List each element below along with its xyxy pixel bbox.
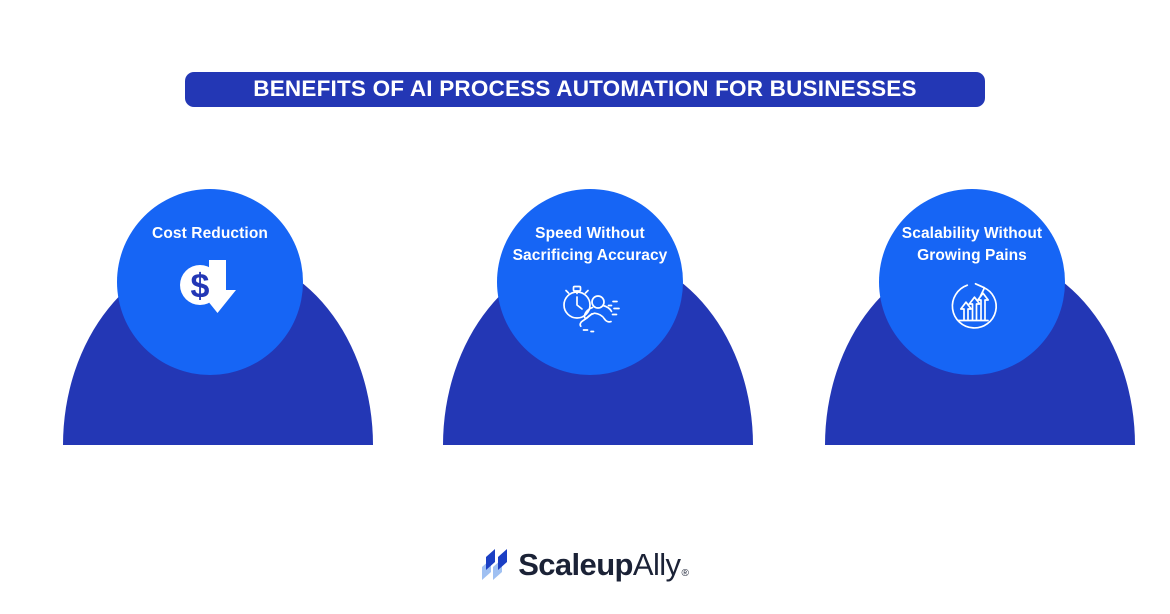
logo-name-light: Ally xyxy=(633,549,681,580)
benefit-bubble: Cost Reduction $ xyxy=(117,189,303,375)
benefit-column-speed: Speed Without Sacrificing Accuracy xyxy=(398,0,788,614)
benefit-bubble: Speed Without Sacrificing Accuracy xyxy=(497,189,683,375)
logo-name-bold: Scaleup xyxy=(518,549,633,580)
benefit-label: Scalability Without Growing Pains xyxy=(892,223,1052,268)
dollar-coin-down-arrow-icon: $ xyxy=(178,257,242,317)
scaleupally-chevron-mark-icon xyxy=(481,548,511,580)
svg-text:$: $ xyxy=(191,268,210,306)
benefit-label: Speed Without Sacrificing Accuracy xyxy=(510,223,670,268)
growth-arrows-cycle-icon xyxy=(940,277,1004,337)
logo-wordmark: Scaleup Ally ® xyxy=(518,549,689,580)
scaleupally-logo: Scaleup Ally ® xyxy=(0,543,1170,585)
infographic-canvas: BENEFITS OF AI PROCESS AUTOMATION FOR BU… xyxy=(0,0,1170,614)
benefit-bubble: Scalability Without Growing Pains xyxy=(879,189,1065,375)
stopwatch-runner-icon xyxy=(558,278,622,338)
benefit-label: Cost Reduction xyxy=(130,223,290,245)
registered-trademark-symbol: ® xyxy=(681,569,688,579)
benefit-column-cost-reduction: Cost Reduction $ xyxy=(18,0,408,614)
benefit-column-scalability: Scalability Without Growing Pains xyxy=(780,0,1170,614)
